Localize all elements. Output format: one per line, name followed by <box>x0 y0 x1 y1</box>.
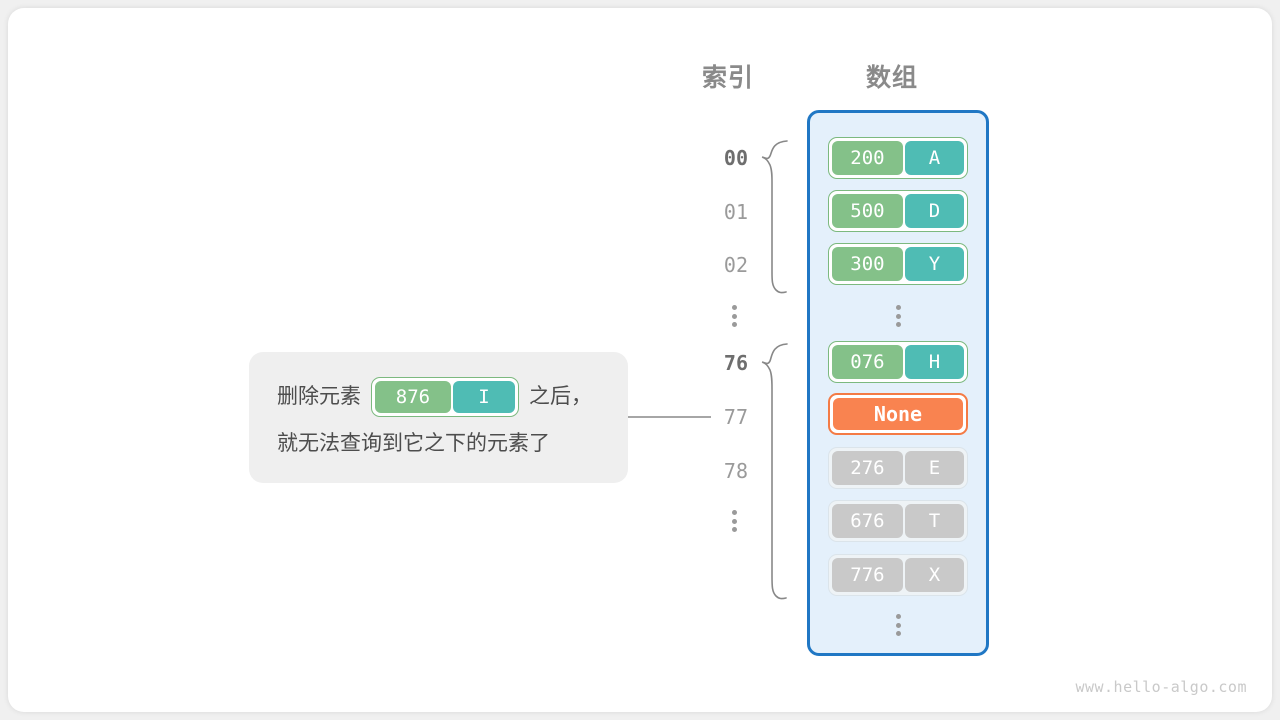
array-column-heading: 数组 <box>866 58 918 94</box>
bucket-value: X <box>905 558 964 592</box>
index-label-02: 02 <box>698 253 748 277</box>
bucket-row-01[interactable]: 500 D <box>828 190 968 232</box>
watermark: www.hello-algo.com <box>1075 678 1247 696</box>
diagram-canvas: 索引 数组 00 01 02 76 77 78 200 A 500 D 300 … <box>0 0 1280 720</box>
bucket-row-80[interactable]: 776 X <box>828 554 968 596</box>
index-column-heading: 索引 <box>702 58 754 94</box>
array-ellipsis-top <box>891 305 905 327</box>
note-line-1-suffix: 之后， <box>529 382 592 412</box>
bucket-row-76[interactable]: 076 H <box>828 341 968 383</box>
array-ellipsis-bottom <box>891 614 905 636</box>
note-line-2: 就无法查询到它之下的元素了 <box>277 429 600 459</box>
bucket-row-77-deleted[interactable]: None <box>828 393 968 435</box>
note-inline-bucket: 876 I <box>371 377 519 417</box>
none-label: None <box>833 398 963 430</box>
bucket-row-02[interactable]: 300 Y <box>828 243 968 285</box>
bucket-key: 076 <box>832 345 903 379</box>
bucket-value: T <box>905 504 964 538</box>
bucket-key: 500 <box>832 194 903 228</box>
bucket-value: E <box>905 451 964 485</box>
index-ellipsis-top <box>727 305 741 327</box>
bucket-row-00[interactable]: 200 A <box>828 137 968 179</box>
index-label-76: 76 <box>698 351 748 375</box>
bucket-value: H <box>905 345 964 379</box>
index-label-77: 77 <box>698 405 748 429</box>
note-bucket-key: 876 <box>375 381 451 413</box>
note-line-1-prefix: 删除元素 <box>277 382 361 412</box>
bucket-value: D <box>905 194 964 228</box>
bucket-key: 300 <box>832 247 903 281</box>
bucket-key: 676 <box>832 504 903 538</box>
annotation-note-box: 删除元素 876 I 之后， 就无法查询到它之下的元素了 <box>249 352 628 483</box>
bucket-value: Y <box>905 247 964 281</box>
bucket-value: A <box>905 141 964 175</box>
content-card <box>8 8 1272 712</box>
note-bucket-value: I <box>453 381 515 413</box>
bucket-row-79[interactable]: 676 T <box>828 500 968 542</box>
index-label-78: 78 <box>698 459 748 483</box>
bucket-key: 200 <box>832 141 903 175</box>
note-line-1: 删除元素 876 I 之后， <box>277 377 600 417</box>
bucket-row-78[interactable]: 276 E <box>828 447 968 489</box>
bucket-key: 276 <box>832 451 903 485</box>
index-ellipsis-bottom <box>727 510 741 532</box>
index-label-00: 00 <box>698 146 748 170</box>
bucket-key: 776 <box>832 558 903 592</box>
index-label-01: 01 <box>698 200 748 224</box>
